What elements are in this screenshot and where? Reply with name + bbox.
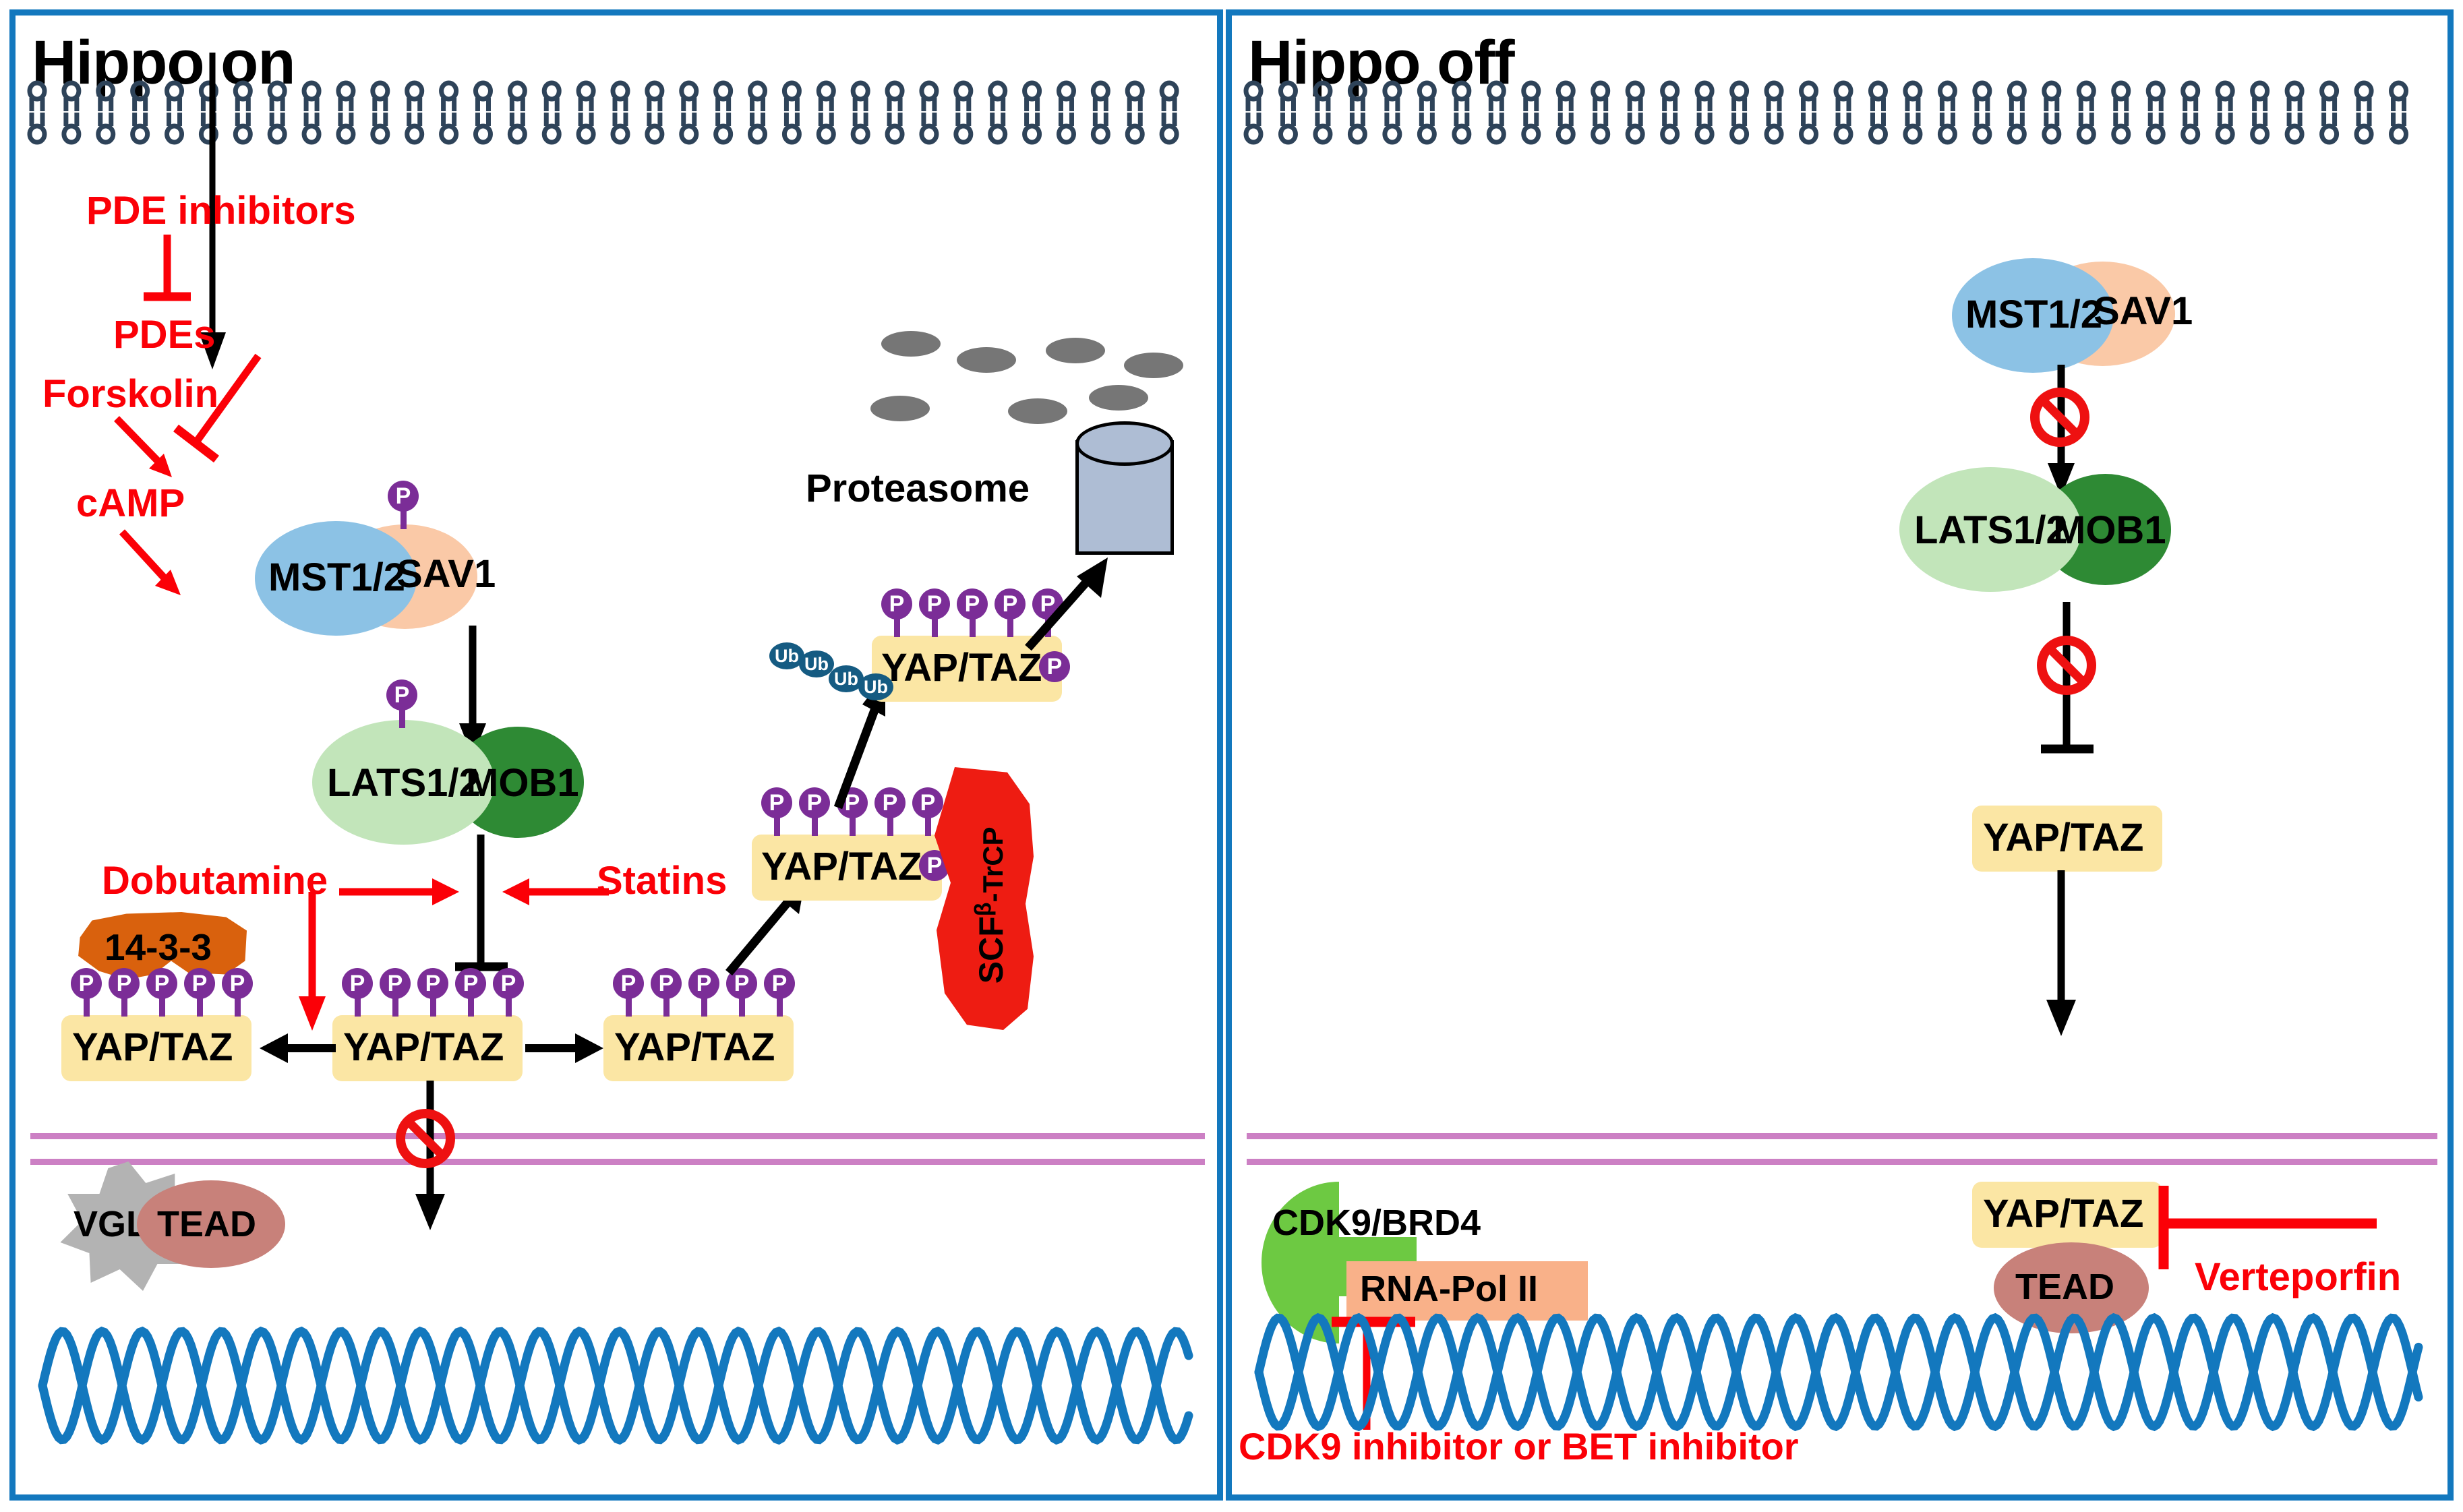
phospho-group: P (726, 968, 759, 1018)
phospho-stem (739, 996, 745, 1017)
phospho-circle: P (386, 679, 417, 710)
panel-right-title: Hippo off (1248, 28, 1514, 98)
node-rna-pol-ii-label: RNA-Pol II (1360, 1268, 1538, 1310)
phospho-stem (84, 996, 90, 1017)
peptide-fragment (870, 396, 930, 421)
node-scf-btrcp-label: SCFβ-TrCP (971, 826, 1011, 984)
arrow-center-to-1433 (258, 1027, 336, 1074)
phospho-circle: P (417, 968, 448, 999)
scf-trcp-text: -TrCP (977, 826, 1009, 902)
nuclear-envelope-outer (1247, 1133, 2437, 1139)
drug-label-dobutamine: Dobutamine (102, 858, 328, 903)
inhibition-lats-yap (454, 835, 541, 990)
drug-label-pde-inhibitors: PDE inhibitors (86, 188, 356, 233)
phospho-group: P (761, 787, 794, 837)
phospho-group-lats: P (386, 679, 419, 729)
phospho-row-yap-1433: P P P P P (71, 968, 253, 1022)
phospho-circle: P (726, 968, 757, 999)
phospho-stem (777, 996, 783, 1017)
phospho-circle: P (342, 968, 373, 999)
phospho-group: P (417, 968, 450, 1018)
phospho-stem (392, 996, 398, 1017)
phospho-row-yap-ub: P P P P P (881, 588, 1063, 642)
prohibition-icon-lats-yap (2037, 636, 2096, 695)
phospho-circle: P (388, 481, 419, 512)
node-14-3-3-label: 14-3-3 (105, 926, 212, 969)
phospho-circle: P (71, 968, 102, 999)
phospho-group: P (874, 787, 907, 837)
node-yap-taz-1433-label: YAP/TAZ (72, 1025, 233, 1070)
phospho-circle: P (761, 787, 792, 818)
phospho-group: P (380, 968, 412, 1018)
arrow-yap-into-nucleus (2041, 870, 2102, 1039)
node-yap-taz-scf-label: YAP/TAZ (761, 844, 922, 889)
peptide-fragment (1046, 338, 1105, 363)
drug-label-cdk9-bet-inhibitor: CDK9 inhibitor or BET inhibitor (1239, 1424, 1799, 1468)
peptide-fragment (1089, 385, 1148, 411)
phospho-stem (812, 816, 818, 836)
phospho-group: P (764, 968, 796, 1018)
phospho-stem (925, 816, 931, 836)
node-yap-taz-center-label: YAP/TAZ (343, 1025, 504, 1070)
phospho-stem (932, 617, 938, 637)
node-pdes: PDEs (113, 312, 216, 357)
phospho-circle: P (764, 968, 795, 999)
phospho-circle: P (1039, 651, 1070, 682)
arrow-center-to-right (525, 1027, 605, 1074)
phospho-stem (626, 996, 632, 1017)
prohibition-icon-nuclear-entry (396, 1109, 455, 1168)
drug-label-forskolin: Forskolin (42, 371, 218, 417)
node-cdk9-brd4-label: CDK9/BRD4 (1272, 1202, 1481, 1244)
drug-label-statins: Statins (597, 858, 727, 903)
phospho-group: P (837, 787, 869, 837)
phospho-group: P (919, 588, 951, 638)
phospho-group: P (222, 968, 254, 1018)
phospho-group-yap-ub-side: P (1039, 651, 1071, 685)
scf-text: SCF (972, 916, 1010, 984)
phospho-group: P (799, 787, 831, 837)
peptide-fragment (881, 331, 941, 357)
phospho-circle: P (995, 588, 1026, 619)
phospho-stem (159, 996, 165, 1017)
phospho-group: P (493, 968, 525, 1018)
drug-label-verteporfin: Verteporfin (2195, 1254, 2401, 1300)
inhibition-cdk9 (1326, 1315, 1461, 1437)
node-mst12-label: MST1/2 (268, 555, 405, 600)
phospho-row-yap-center: P P P P P (342, 968, 524, 1022)
phospho-group-mst: P (388, 481, 420, 531)
phospho-stem (970, 617, 976, 637)
phospho-stem (663, 996, 670, 1017)
phospho-circle: P (837, 787, 868, 818)
panel-hippo-on: Hippo on PDE inhibitors PDEs Forskolin (9, 9, 1223, 1501)
nuclear-envelope-inner (1247, 1159, 2437, 1165)
node-tead-center-label: TEAD (2015, 1266, 2114, 1308)
phospho-stem (850, 816, 856, 836)
phospho-circle: P (109, 968, 140, 999)
arrow-dobutamine (339, 872, 474, 919)
phospho-circle: P (799, 787, 830, 818)
arrow-camp-lats (117, 528, 204, 622)
node-yap-taz-cyto-label: YAP/TAZ (1983, 815, 2144, 860)
phospho-stem (1007, 617, 1013, 637)
phospho-stem (774, 816, 780, 836)
phospho-circle: P (874, 787, 906, 818)
phospho-stem (235, 996, 241, 1017)
phospho-circle: P (957, 588, 988, 619)
peptide-fragment (1124, 353, 1183, 378)
prohibition-icon-mst-lats (2030, 388, 2089, 447)
phospho-group: P (71, 968, 103, 1018)
phospho-group: P (184, 968, 216, 1018)
phospho-stem (400, 509, 407, 529)
phospho-circle: P (651, 968, 682, 999)
node-mob1-label: MOB1 (2053, 508, 2166, 553)
phospho-stem (468, 996, 474, 1017)
phospho-group: P (613, 968, 645, 1018)
node-proteasome-label: Proteasome (806, 466, 1030, 511)
nuclear-envelope-outer (30, 1133, 1205, 1139)
phospho-stem (1045, 617, 1051, 637)
node-camp: cAMP (76, 481, 185, 526)
phospho-circle: P (493, 968, 524, 999)
phospho-circle: P (1032, 588, 1063, 619)
proteasome-cylinder-top (1075, 421, 1174, 466)
prohibition-slash (2046, 645, 2087, 686)
phospho-group: P (881, 588, 914, 638)
phospho-circle: P (613, 968, 644, 999)
phospho-circle: P (146, 968, 177, 999)
phospho-group: P (1032, 588, 1065, 638)
prohibition-slash (2040, 397, 2080, 437)
arrow-statins (501, 872, 609, 919)
phospho-circle: P (455, 968, 486, 999)
node-sav1-label: SAV1 (396, 551, 496, 597)
figure-canvas: Hippo on PDE inhibitors PDEs Forskolin (0, 0, 2463, 1512)
node-lats12-label: LATS1/2 (327, 760, 481, 806)
phospho-stem (506, 996, 512, 1017)
peptide-fragment (957, 347, 1016, 373)
phospho-circle: P (919, 588, 950, 619)
ubiquitin-bead: Ub (799, 651, 834, 677)
panel-left-title: Hippo on (32, 28, 295, 98)
node-tead-left-label: TEAD (157, 1203, 256, 1245)
phospho-circle: P (688, 968, 719, 999)
phospho-stem (894, 617, 900, 637)
panel-hippo-off: Hippo off MST1/2 SAV1 LATS1/2 MOB1 14-3-… (1226, 9, 2454, 1501)
phospho-circle: P (380, 968, 411, 999)
phospho-group: P (342, 968, 374, 1018)
phospho-group: P (455, 968, 487, 1018)
inhibition-pde (137, 235, 218, 315)
node-yap-taz-nuc-label: YAP/TAZ (1983, 1191, 2144, 1236)
phospho-group: P (109, 968, 141, 1018)
peptide-fragment (1008, 398, 1067, 424)
phospho-circle: P (881, 588, 912, 619)
phospho-group: P (688, 968, 721, 1018)
node-yap-taz-right-label: YAP/TAZ (614, 1025, 775, 1070)
phospho-group: P (995, 588, 1027, 638)
node-mob1-label: MOB1 (466, 760, 579, 806)
node-lats12-label: LATS1/2 (1914, 508, 2068, 553)
phospho-group: P (957, 588, 989, 638)
dna-double-helix-right (1259, 1310, 2419, 1434)
ubiquitin-chain: UbUbUbUb (769, 642, 891, 703)
node-sav1-label: SAV1 (2094, 289, 2193, 334)
ubiquitin-bead: Ub (858, 673, 893, 700)
scf-beta-superscript: β (971, 902, 997, 916)
phospho-group: P (651, 968, 683, 1018)
phospho-stem (399, 708, 405, 728)
phospho-stem (701, 996, 707, 1017)
nuclear-envelope-inner (30, 1159, 1205, 1165)
dna-double-helix-left (42, 1323, 1189, 1448)
phospho-circle: P (222, 968, 253, 999)
phospho-stem (355, 996, 361, 1017)
phospho-circle: P (184, 968, 215, 999)
phospho-stem (430, 996, 436, 1017)
phospho-stem (887, 816, 893, 836)
phospho-circle: P (912, 787, 943, 818)
phospho-group: P (146, 968, 179, 1018)
phospho-row-yap-scf: P P P P P (761, 787, 943, 841)
prohibition-slash (405, 1118, 446, 1159)
phospho-row-yap-right: P P P P P (613, 968, 795, 1022)
node-mst12-label: MST1/2 (1965, 292, 2102, 337)
phospho-stem (197, 996, 203, 1017)
phospho-stem (121, 996, 127, 1017)
node-yap-taz-ub-label: YAP/TAZ (881, 645, 1042, 690)
